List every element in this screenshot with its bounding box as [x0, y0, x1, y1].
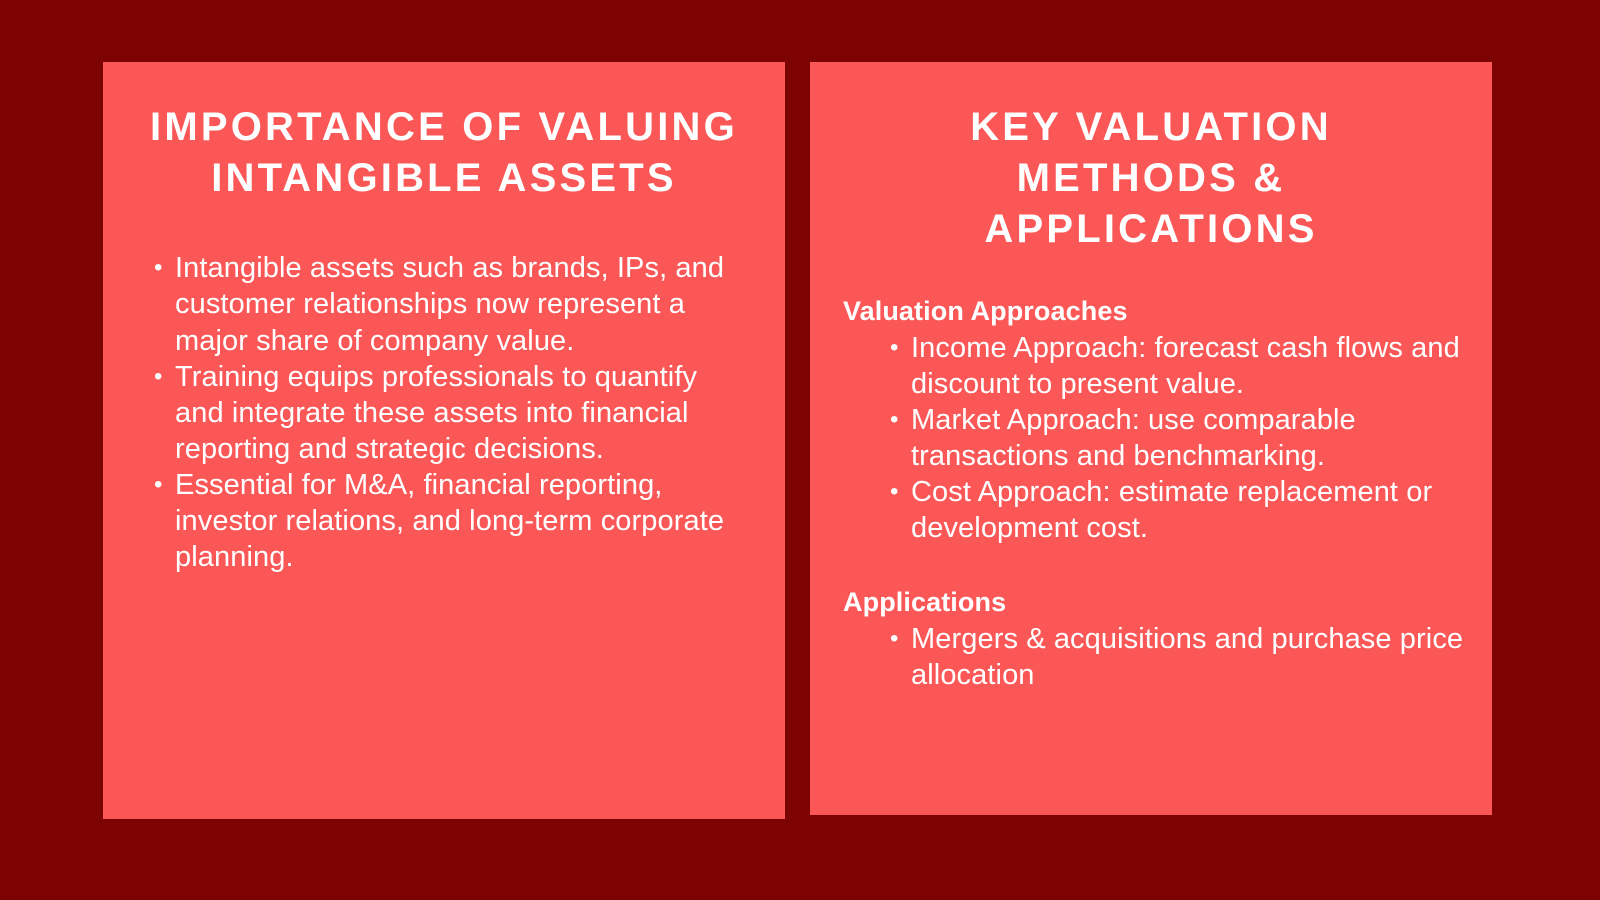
list-item: Cost Approach: estimate replacement or d…: [889, 474, 1468, 546]
right-card-body: Valuation Approaches Income Approach: fo…: [843, 294, 1468, 694]
list-item: Market Approach: use comparable transact…: [889, 402, 1468, 474]
list-item: Income Approach: forecast cash flows and…: [889, 330, 1468, 402]
list-item: Intangible assets such as brands, IPs, a…: [151, 250, 753, 358]
section-heading: Valuation Approaches: [843, 294, 1468, 329]
list-item: Training equips professionals to quantif…: [151, 359, 753, 467]
slide-canvas: Importance of Valuing Intangible Assets …: [0, 0, 1600, 900]
section-applications: Applications Mergers & acquisitions and …: [843, 585, 1468, 693]
left-card-body: Intangible assets such as brands, IPs, a…: [151, 250, 753, 575]
right-card-title: Key Valuation Methods & Applications: [888, 102, 1414, 256]
valuation-approaches-bullet-list: Income Approach: forecast cash flows and…: [843, 330, 1468, 547]
card-importance: Importance of Valuing Intangible Assets …: [103, 62, 785, 819]
list-item: Essential for M&A, financial reporting, …: [151, 467, 753, 575]
section-heading: Applications: [843, 585, 1468, 620]
left-card-title: Importance of Valuing Intangible Assets: [131, 102, 757, 204]
card-methods: Key Valuation Methods & Applications Val…: [810, 62, 1492, 815]
left-card-bullet-list: Intangible assets such as brands, IPs, a…: [151, 250, 753, 575]
section-valuation-approaches: Valuation Approaches Income Approach: fo…: [843, 294, 1468, 547]
applications-bullet-list: Mergers & acquisitions and purchase pric…: [843, 621, 1468, 693]
list-item: Mergers & acquisitions and purchase pric…: [889, 621, 1468, 693]
